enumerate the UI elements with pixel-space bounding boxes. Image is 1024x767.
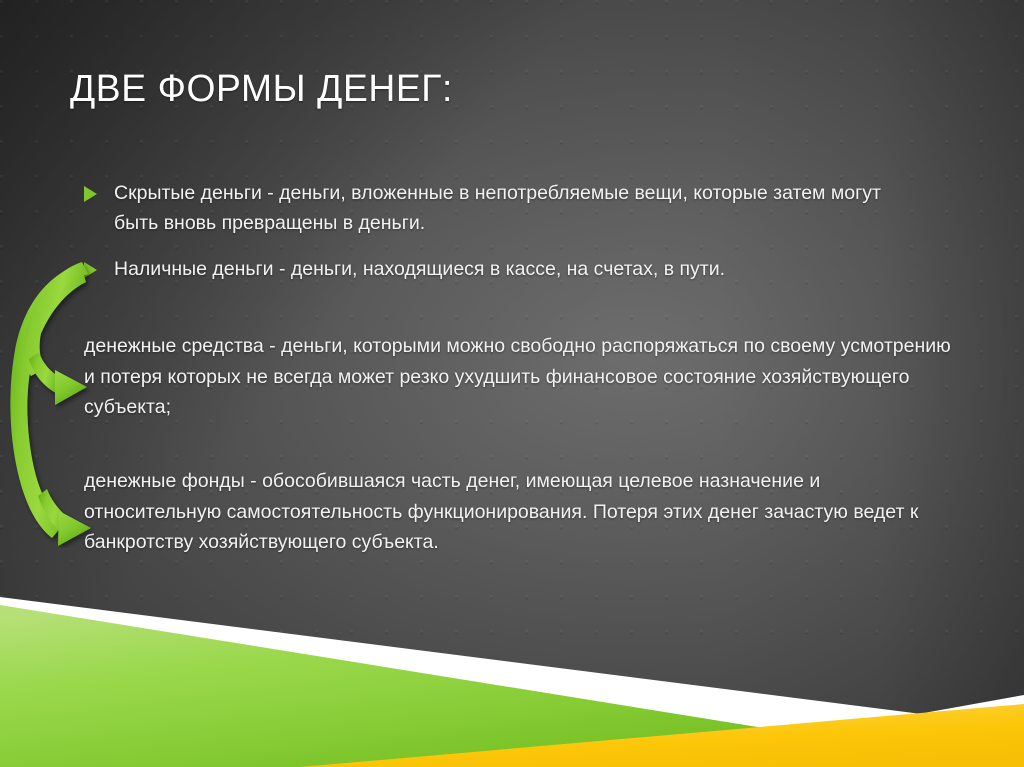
bullet-text: Скрытые деньги - деньги, вложенные в неп… — [114, 178, 924, 238]
list-item: Наличные деньги - деньги, находящиеся в … — [84, 254, 964, 284]
bullet-list: Скрытые деньги - деньги, вложенные в неп… — [84, 178, 964, 300]
paragraph-monetary-funds: денежные фонды - обособившаяся часть ден… — [84, 466, 954, 558]
slide-title: ДВЕ ФОРМЫ ДЕНЕГ: — [70, 66, 453, 112]
paragraph-cash-funds: денежные средства - деньги, которыми мож… — [84, 331, 954, 423]
bottom-decoration — [0, 587, 1024, 767]
bullet-text: Наличные деньги - деньги, находящиеся в … — [114, 254, 725, 284]
triangle-bullet-icon — [84, 186, 97, 202]
triangle-bullet-icon — [84, 262, 97, 278]
slide-canvas: ДВЕ ФОРМЫ ДЕНЕГ: Скрытые деньги - деньги… — [0, 0, 1024, 767]
list-item: Скрытые деньги - деньги, вложенные в неп… — [84, 178, 964, 238]
